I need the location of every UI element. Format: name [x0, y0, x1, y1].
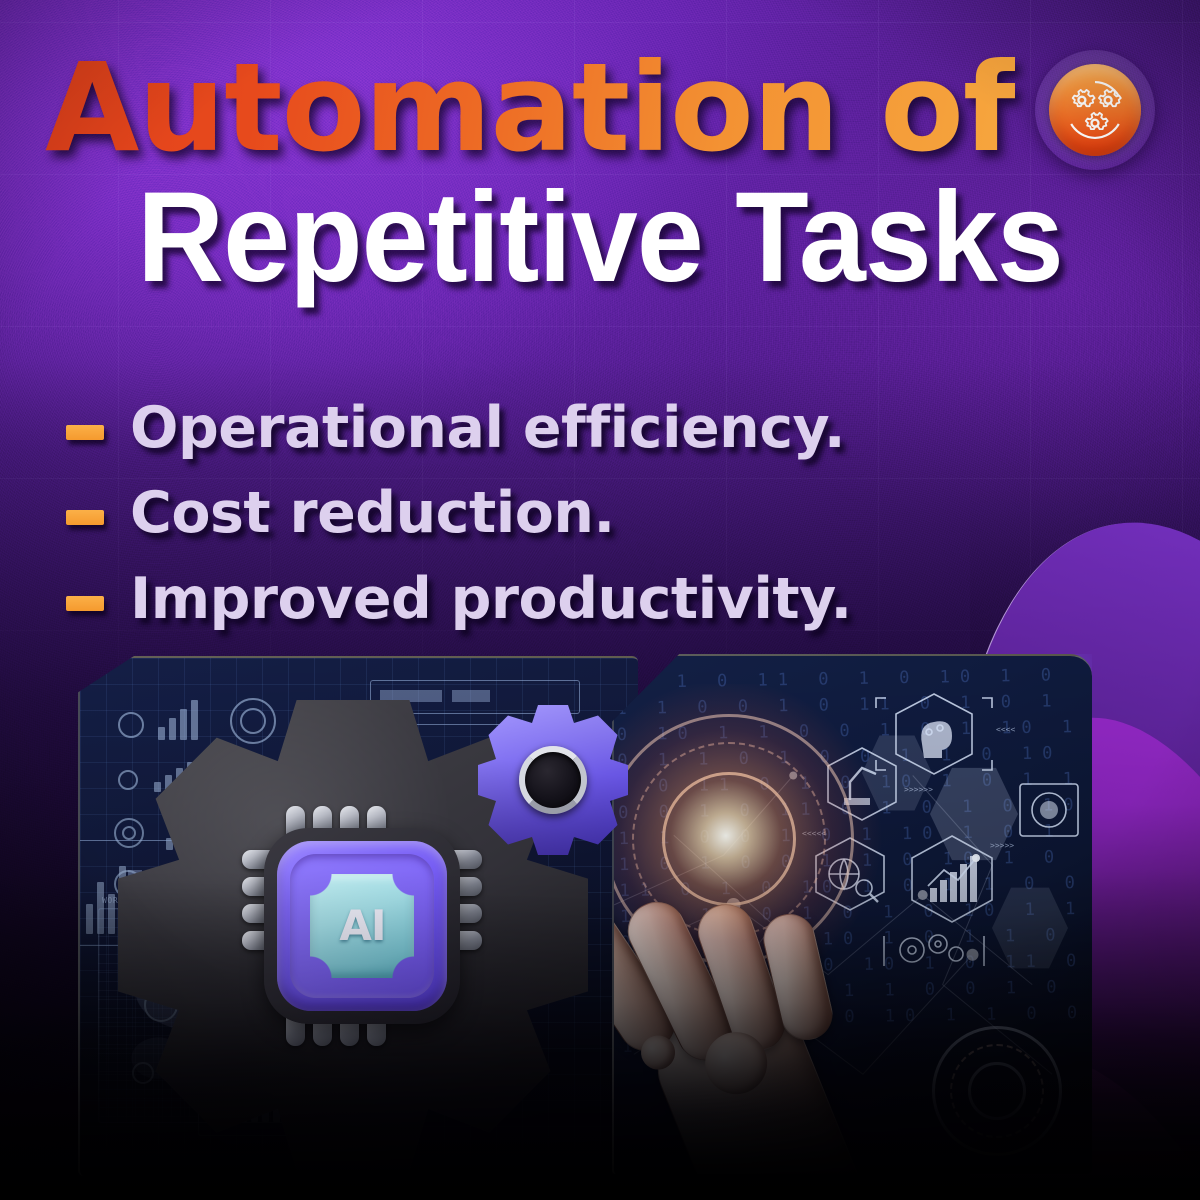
page-title-line1: Automation of	[45, 47, 1015, 169]
list-item: Improved productivity.	[66, 569, 852, 629]
purple-gear-hub	[519, 746, 587, 814]
chip-inner-bezel: AI	[290, 854, 434, 998]
robotic-hand-panel: 10 1 0 11 0 1 0 10 1 0 1 1 0 0 1 0 11 0 …	[612, 654, 1092, 1174]
dash-marker-icon	[66, 596, 104, 611]
chip-face: AI	[277, 841, 447, 1011]
benefits-list: Operational efficiency. Cost reduction. …	[66, 398, 852, 654]
headline-block: Automation of	[0, 46, 1200, 302]
ai-processor-chip: AI	[264, 828, 460, 1024]
three-gears-icon	[1035, 50, 1155, 170]
three-gears-glyph	[1054, 69, 1136, 151]
list-item-label: Improved productivity.	[130, 569, 852, 629]
gear-badge-disc	[1049, 64, 1141, 156]
title-line1-row: Automation of	[0, 46, 1200, 170]
list-item: Cost reduction.	[66, 483, 852, 543]
chip-ai-label: AI	[339, 901, 385, 950]
list-item: Operational efficiency.	[66, 398, 852, 458]
dash-marker-icon	[66, 425, 104, 440]
chip-frame: AI	[264, 828, 460, 1024]
artwork-area: WORLD MAP 10 1 0 11 0 1 0 10 1 0 1 1 0 0…	[0, 640, 1200, 1200]
poster-canvas: WORLD MAP 10 1 0 11 0 1 0 10 1 0 1 1 0 0…	[0, 0, 1200, 1200]
page-title-line2: Repetitive Tasks	[36, 174, 1164, 302]
list-item-label: Cost reduction.	[130, 483, 615, 543]
chip-core: AI	[310, 874, 414, 978]
list-item-label: Operational efficiency.	[130, 398, 845, 458]
purple-gear	[478, 705, 628, 855]
dash-marker-icon	[66, 510, 104, 525]
right-panel-fade	[614, 656, 1092, 1174]
